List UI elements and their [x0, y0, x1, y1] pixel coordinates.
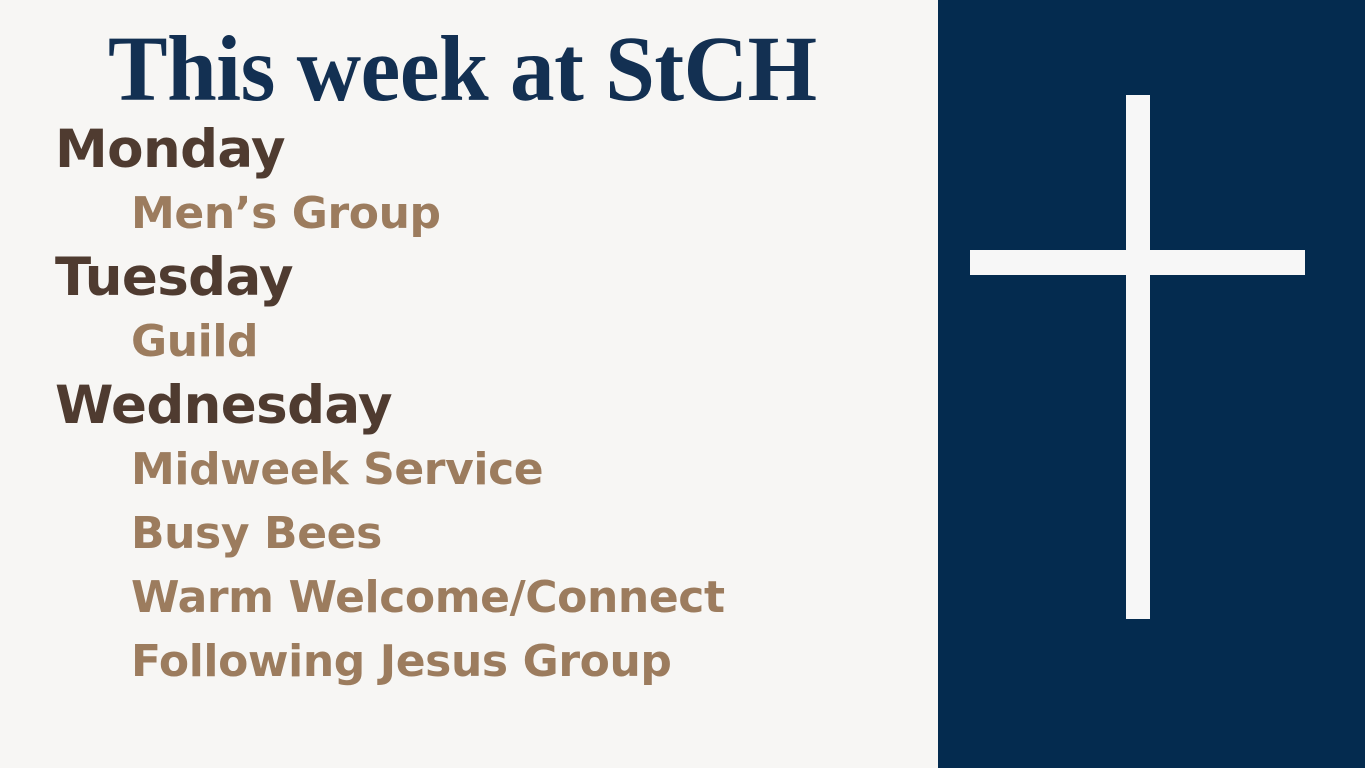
day-block-monday: Monday Men’s Group — [0, 118, 938, 246]
weekly-schedule-slide: This week at StCH Monday Men’s Group Tue… — [0, 0, 1365, 768]
event-item: Busy Bees — [0, 502, 938, 566]
content-panel: This week at StCH Monday Men’s Group Tue… — [0, 0, 938, 768]
event-item: Men’s Group — [0, 182, 938, 246]
day-heading-wednesday: Wednesday — [0, 374, 938, 438]
day-heading-tuesday: Tuesday — [0, 246, 938, 310]
cross-horizontal-bar — [970, 250, 1305, 275]
event-item: Warm Welcome/Connect — [0, 566, 938, 630]
day-block-tuesday: Tuesday Guild — [0, 246, 938, 374]
page-title: This week at StCH — [108, 23, 817, 116]
day-heading-monday: Monday — [0, 118, 938, 182]
day-block-wednesday: Wednesday Midweek Service Busy Bees Warm… — [0, 374, 938, 694]
accent-panel — [938, 0, 1365, 768]
event-item: Following Jesus Group — [0, 630, 938, 694]
event-item: Midweek Service — [0, 438, 938, 502]
christian-cross-icon — [938, 0, 1365, 768]
cross-vertical-bar — [1126, 95, 1150, 619]
event-item: Guild — [0, 310, 938, 374]
schedule-list: Monday Men’s Group Tuesday Guild Wednesd… — [0, 118, 938, 694]
